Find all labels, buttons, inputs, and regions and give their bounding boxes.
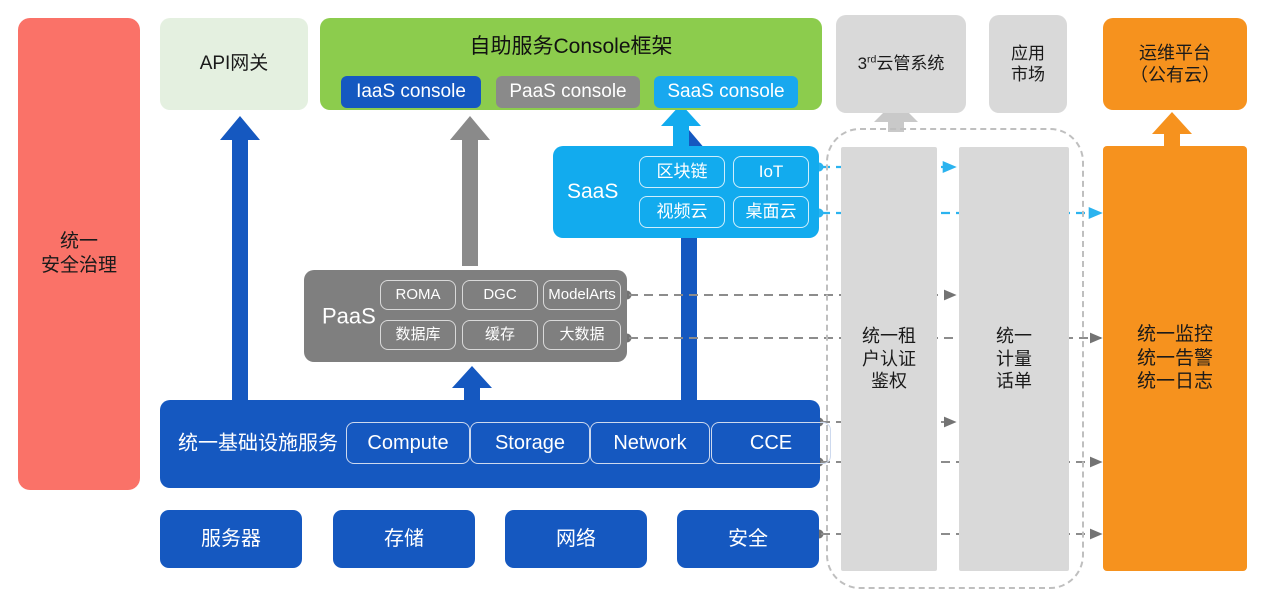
hardware-tile-security-label: 安全 xyxy=(728,527,768,552)
infrastructure-bar: 统一基础设施服务 Compute Storage Network CCE xyxy=(160,400,820,488)
saas-item-video-cloud[interactable]: 视频云 xyxy=(639,196,725,228)
third-party-cloud-mgmt-label: 3rd云管系统 xyxy=(858,53,945,74)
infra-item-cce-label: CCE xyxy=(750,431,792,456)
saas-item-desktop-cloud[interactable]: 桌面云 xyxy=(733,196,809,228)
hardware-tile-storage: 存储 xyxy=(333,510,475,568)
arrow-infra-to-apigw xyxy=(220,116,260,400)
infra-item-network-label: Network xyxy=(613,431,686,456)
infra-item-storage-label: Storage xyxy=(495,431,565,456)
metering-billing-line3: 话单 xyxy=(996,370,1032,393)
metering-billing-line1: 统一 xyxy=(996,325,1032,348)
paas-item-bigdata[interactable]: 大数据 xyxy=(543,320,621,350)
third-party-rest: 云管系统 xyxy=(876,54,944,73)
ops-monitoring-line1: 统一监控 xyxy=(1137,323,1213,347)
saas-item-blockchain-label: 区块链 xyxy=(657,161,708,182)
console-frame-title: 自助服务Console框架 xyxy=(320,34,822,60)
saas-label: SaaS xyxy=(567,179,618,205)
api-gateway-box: API网关 xyxy=(160,18,308,110)
ops-platform-line2: （公有云） xyxy=(1130,64,1220,87)
iaas-console-chip[interactable]: IaaS console xyxy=(341,76,481,108)
hardware-tile-storage-label: 存储 xyxy=(384,527,424,552)
security-governance-line2: 安全治理 xyxy=(41,254,117,278)
ops-monitoring-box: 统一监控 统一告警 统一日志 xyxy=(1103,146,1247,571)
paas-item-cache[interactable]: 缓存 xyxy=(462,320,538,350)
saas-item-blockchain[interactable]: 区块链 xyxy=(639,156,725,188)
tenant-auth-line1: 统一租 xyxy=(862,325,916,348)
infrastructure-label: 统一基础设施服务 xyxy=(178,432,338,457)
third-party-prefix: 3 xyxy=(858,54,867,73)
ops-monitoring-line2: 统一告警 xyxy=(1137,347,1213,371)
app-market-line1: 应用 xyxy=(1011,43,1045,64)
saas-item-iot-label: IoT xyxy=(759,161,784,182)
metering-billing-line2: 计量 xyxy=(996,348,1032,371)
saas-block: SaaS 区块链 IoT 视频云 桌面云 xyxy=(553,146,819,238)
hardware-tile-server-label: 服务器 xyxy=(201,527,261,552)
app-market-box: 应用 市场 xyxy=(989,15,1067,113)
third-party-cloud-mgmt-box: 3rd云管系统 xyxy=(836,15,966,113)
hardware-tile-network: 网络 xyxy=(505,510,647,568)
arrow-infra-to-paas xyxy=(452,366,492,400)
saas-item-iot[interactable]: IoT xyxy=(733,156,809,188)
infra-item-compute-label: Compute xyxy=(367,431,448,456)
arrow-ops-to-platform xyxy=(1152,112,1192,146)
saas-console-chip[interactable]: SaaS console xyxy=(654,76,798,108)
saas-console-label: SaaS console xyxy=(667,80,784,104)
paas-item-dgc-label: DGC xyxy=(483,286,516,305)
ops-platform-box: 运维平台 （公有云） xyxy=(1103,18,1247,110)
tenant-auth-line3: 鉴权 xyxy=(862,370,916,393)
infra-item-cce[interactable]: CCE xyxy=(711,422,831,464)
tenant-auth-column: 统一租 户认证 鉴权 xyxy=(841,147,937,571)
api-gateway-label: API网关 xyxy=(200,52,269,76)
app-market-line2: 市场 xyxy=(1011,64,1045,85)
arrow-paas-to-console xyxy=(450,116,490,266)
metering-billing-column: 统一 计量 话单 xyxy=(959,147,1069,571)
console-frame: 自助服务Console框架 IaaS console PaaS console … xyxy=(320,18,822,110)
ops-platform-line1: 运维平台 xyxy=(1130,42,1220,65)
paas-item-roma-label: ROMA xyxy=(396,286,441,305)
hardware-tile-network-label: 网络 xyxy=(556,527,596,552)
paas-item-database[interactable]: 数据库 xyxy=(380,320,456,350)
infra-item-compute[interactable]: Compute xyxy=(346,422,470,464)
paas-item-modelarts-label: ModelArts xyxy=(548,286,616,305)
architecture-diagram: 统一 安全治理 API网关 自助服务Console框架 IaaS console… xyxy=(0,0,1265,605)
paas-item-database-label: 数据库 xyxy=(395,326,440,345)
paas-label: PaaS xyxy=(322,302,376,330)
tenant-auth-line2: 户认证 xyxy=(862,348,916,371)
paas-console-chip[interactable]: PaaS console xyxy=(496,76,640,108)
paas-block: PaaS ROMA DGC ModelArts 数据库 缓存 大数据 xyxy=(304,270,627,362)
hardware-tile-security: 安全 xyxy=(677,510,819,568)
ops-monitoring-line3: 统一日志 xyxy=(1137,370,1213,394)
paas-item-cache-label: 缓存 xyxy=(485,326,515,345)
iaas-console-label: IaaS console xyxy=(356,80,466,104)
security-governance-panel: 统一 安全治理 xyxy=(18,18,140,490)
paas-item-roma[interactable]: ROMA xyxy=(380,280,456,310)
saas-item-desktop-cloud-label: 桌面云 xyxy=(746,201,797,222)
paas-item-modelarts[interactable]: ModelArts xyxy=(543,280,621,310)
saas-item-video-cloud-label: 视频云 xyxy=(657,201,708,222)
hardware-tile-server: 服务器 xyxy=(160,510,302,568)
infra-item-storage[interactable]: Storage xyxy=(470,422,590,464)
paas-item-dgc[interactable]: DGC xyxy=(462,280,538,310)
arrow-saas-to-saas-console xyxy=(661,104,701,146)
paas-console-label: PaaS console xyxy=(509,80,626,104)
security-governance-line1: 统一 xyxy=(41,230,117,254)
infra-item-network[interactable]: Network xyxy=(590,422,710,464)
paas-item-bigdata-label: 大数据 xyxy=(559,326,604,345)
